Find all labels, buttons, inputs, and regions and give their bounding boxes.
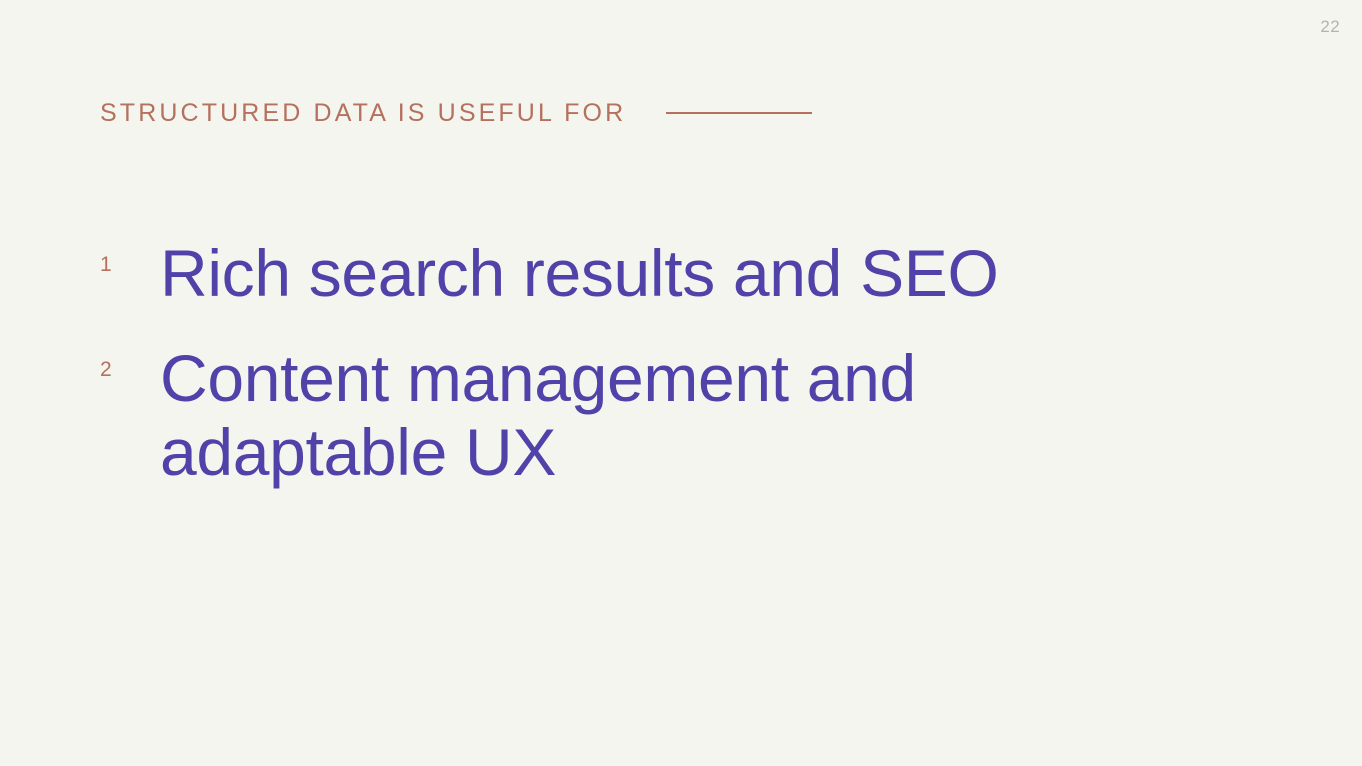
page-title: Structured data is useful for: [100, 96, 626, 130]
list-item-label: Content management and adaptable UX: [160, 341, 1040, 490]
slide-header: Structured data is useful for: [100, 96, 812, 130]
list-item-number: 2: [100, 341, 160, 380]
list-item-label: Rich search results and SEO: [160, 236, 1040, 311]
slide-canvas: 22 Structured data is useful for 1 Rich …: [0, 0, 1362, 766]
numbered-points-list: 1 Rich search results and SEO 2 Content …: [100, 236, 1200, 490]
page-number: 22: [1320, 18, 1340, 35]
list-item: 1 Rich search results and SEO: [100, 236, 1200, 311]
list-item: 2 Content management and adaptable UX: [100, 341, 1200, 490]
header-rule-divider: [666, 112, 812, 114]
list-item-number: 1: [100, 236, 160, 275]
